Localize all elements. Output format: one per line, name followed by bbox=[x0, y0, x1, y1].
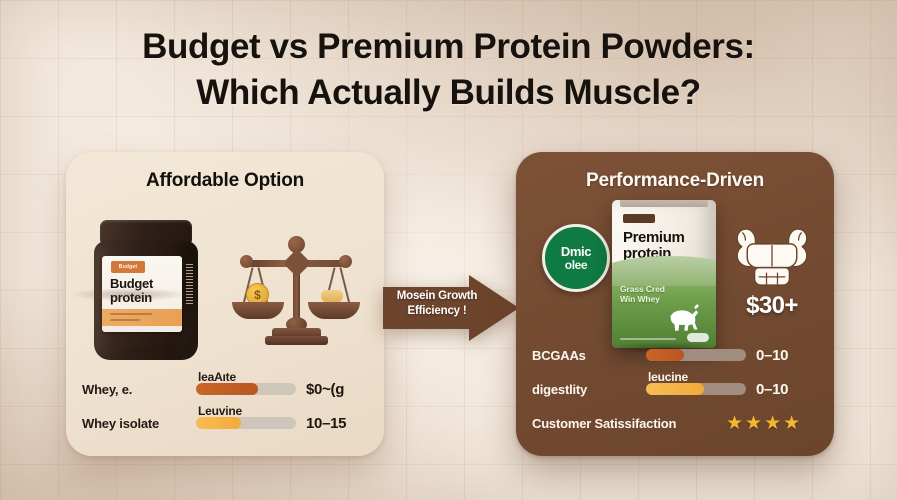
metric-value: $0~(g bbox=[306, 381, 368, 398]
pouch-field-art: Grass Cred Win Whey bbox=[612, 270, 716, 348]
jar-shadow bbox=[70, 288, 188, 301]
scale-hub bbox=[283, 249, 311, 277]
jar-badge: Budget bbox=[111, 261, 145, 273]
jar-stripe bbox=[102, 309, 182, 326]
growth-arrow: Mosein Growth Efficiency ! bbox=[383, 275, 519, 341]
title-line-2: Which Actually Builds Muscle? bbox=[0, 70, 897, 116]
metric-bar-wrap bbox=[646, 349, 746, 361]
star-rating: ★ ★ ★ ★ bbox=[726, 414, 818, 433]
metric-row: BCGAAs 0–10 bbox=[516, 338, 834, 372]
left-metric-rows: Whey, e. leaAıte $0~(g Whey isolate Leuv… bbox=[66, 372, 384, 440]
infographic-canvas: Budget vs Premium Protein Powders: Which… bbox=[0, 0, 897, 500]
price-label: $30+ bbox=[726, 292, 818, 320]
scale-pan-right bbox=[308, 302, 360, 319]
pouch-hill bbox=[612, 256, 716, 286]
metric-label: BCGAAs bbox=[532, 348, 636, 363]
star-icon: ★ bbox=[764, 414, 781, 433]
balance-scale-icon: $ bbox=[232, 224, 360, 356]
left-card-heading: Affordable Option bbox=[66, 170, 384, 192]
metric-row: Whey, e. leaAıte $0~(g bbox=[66, 372, 384, 406]
pouch-top-seal bbox=[620, 200, 708, 207]
cow-icon bbox=[664, 294, 706, 336]
title-line-1: Budget vs Premium Protein Powders: bbox=[142, 27, 755, 66]
performance-driven-card: Performance-Driven Dmic olee Premium pro… bbox=[516, 152, 834, 456]
metric-bar-fill bbox=[646, 383, 704, 395]
premium-protein-pouch: Premium protein Grass Cred Win Whey bbox=[612, 200, 716, 348]
metric-bar-wrap: leaAıte bbox=[196, 383, 296, 395]
scale-end-left bbox=[240, 255, 253, 268]
metric-value: 0–10 bbox=[756, 347, 818, 364]
metric-bar-track bbox=[646, 349, 746, 361]
scale-end-right bbox=[339, 255, 352, 268]
star-icon: ★ bbox=[726, 414, 743, 433]
star-icon: ★ bbox=[745, 414, 762, 433]
metric-label: Whey, e. bbox=[82, 382, 186, 397]
certification-badge-icon: Dmic olee bbox=[542, 224, 610, 292]
metric-caption: leaAıte bbox=[198, 370, 236, 384]
right-card-heading: Performance-Driven bbox=[516, 170, 834, 192]
metric-row: digestlity leucine 0–10 bbox=[516, 372, 834, 406]
right-metric-rows: BCGAAs 0–10 digestlity leucine 0–10 bbox=[516, 338, 834, 440]
metric-label: Whey isolate bbox=[82, 416, 186, 431]
scale-base-bottom bbox=[265, 336, 328, 345]
flexing-muscle-icon bbox=[726, 220, 818, 286]
metric-bar-track bbox=[196, 417, 296, 429]
metric-bar-track bbox=[646, 383, 746, 395]
metric-bar-fill bbox=[196, 383, 258, 395]
badge-line-1: Dmic bbox=[561, 245, 591, 258]
pouch-badge bbox=[623, 214, 655, 223]
metric-bar-fill bbox=[196, 417, 241, 429]
page-title: Budget vs Premium Protein Powders: Which… bbox=[0, 24, 897, 116]
metric-value: 10–15 bbox=[306, 415, 368, 432]
metric-row-rating: Customer Satissifaction ★ ★ ★ ★ bbox=[516, 406, 834, 440]
badge-line-2: olee bbox=[565, 259, 587, 271]
metric-label: Customer Satissifaction bbox=[532, 416, 726, 431]
arrow-label: Mosein Growth Efficiency ! bbox=[387, 289, 487, 318]
affordable-option-card: Affordable Option Budget Budget protein bbox=[66, 152, 384, 456]
star-icon: ★ bbox=[783, 414, 800, 433]
metric-value: 0–10 bbox=[756, 381, 818, 398]
jar-barcode bbox=[186, 264, 193, 304]
metric-bar-fill bbox=[646, 349, 684, 361]
scale-pan-left bbox=[232, 302, 284, 319]
metric-caption: Leuvine bbox=[198, 404, 242, 418]
metric-label: digestlity bbox=[532, 382, 636, 397]
metric-bar-wrap: Leuvine bbox=[196, 417, 296, 429]
metric-bar-track bbox=[196, 383, 296, 395]
metric-bar-wrap: leucine bbox=[646, 383, 746, 395]
metric-row: Whey isolate Leuvine 10–15 bbox=[66, 406, 384, 440]
metric-caption: leucine bbox=[648, 370, 688, 384]
